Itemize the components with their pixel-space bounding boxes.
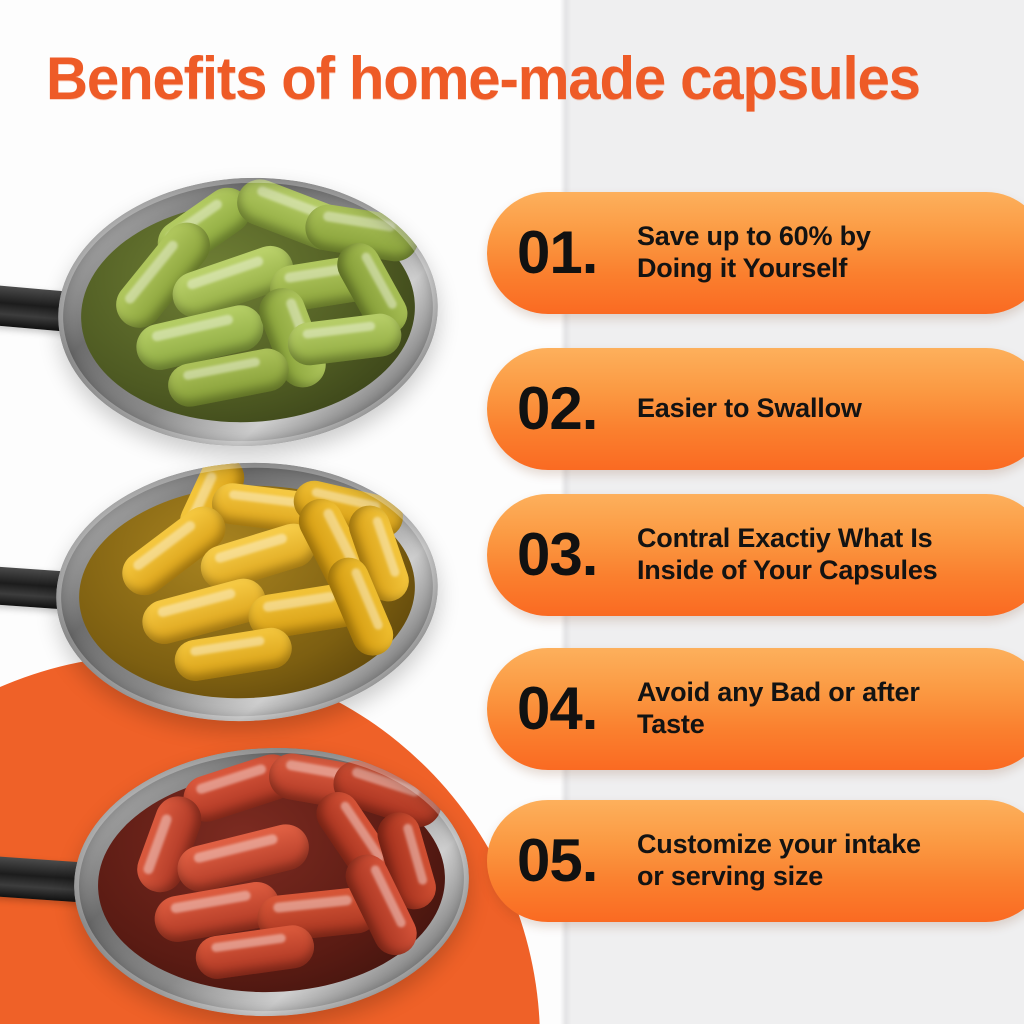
benefit-number: 01. [517,223,637,283]
benefit-text: Avoid any Bad or after Taste [637,677,1024,740]
spoon-bowl [69,741,473,1023]
spoon-green-capsules-photo [0,168,468,458]
spoon-yellow-capsules-photo [0,455,468,735]
benefit-number: 03. [517,525,637,585]
benefit-text: Save up to 60% by Doing it Yourself [637,221,1024,284]
benefit-text: Easier to Swallow [637,393,1024,425]
benefit-item-01[interactable]: 01. Save up to 60% by Doing it Yourself [487,192,1024,314]
benefit-text: Contral Exactiy What Is Inside of Your C… [637,523,1024,586]
benefit-number: 02. [517,379,637,439]
benefit-item-02[interactable]: 02. Easier to Swallow [487,348,1024,470]
spoon-bowl [51,168,445,456]
spoon-bowl [50,453,445,731]
benefit-text: Customize your intake or serving size [637,829,1024,892]
benefit-number: 04. [517,679,637,739]
benefit-item-03[interactable]: 03. Contral Exactiy What Is Inside of Yo… [487,494,1024,616]
spoon-red-capsules-photo [0,740,504,1024]
benefit-item-04[interactable]: 04. Avoid any Bad or after Taste [487,648,1024,770]
infographic-poster: 01. Save up to 60% by Doing it Yourself … [0,0,1024,1024]
page-title: Benefits of home-made capsules [46,44,977,116]
benefit-number: 05. [517,831,637,891]
benefit-item-05[interactable]: 05. Customize your intake or serving siz… [487,800,1024,922]
